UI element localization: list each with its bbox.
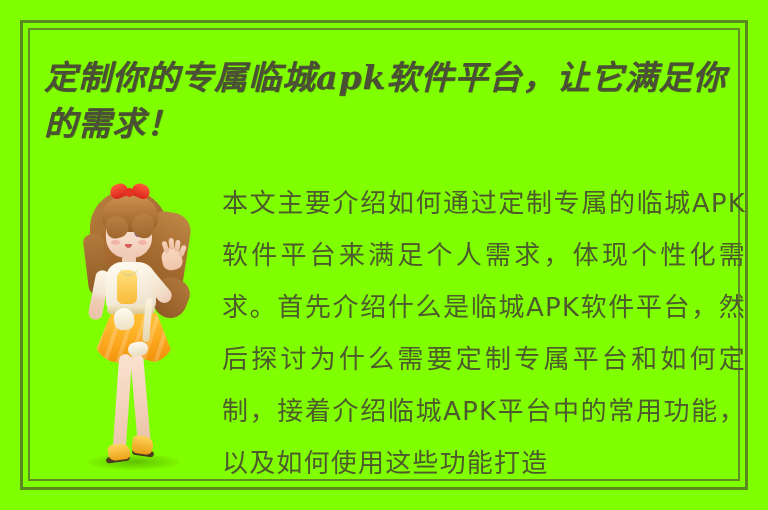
anime-girl-character-illustration bbox=[62, 178, 212, 478]
character-blush-left bbox=[111, 240, 120, 245]
character-left-leg bbox=[113, 354, 133, 451]
character-left-shoe bbox=[107, 443, 131, 462]
character-ground-shadow bbox=[88, 454, 180, 470]
poster-body-text: 本文主要介绍如何通过定制专属的临城APK软件平台来满足个人需求，体现个性化需求。… bbox=[222, 178, 746, 490]
poster-canvas: 定制你的专属临城apk软件平台，让它满足你的需求！ bbox=[0, 0, 768, 510]
character-hair-bow-knot bbox=[125, 188, 134, 197]
character-blush-right bbox=[138, 240, 147, 245]
character-right-shoe bbox=[131, 435, 154, 456]
poster-headline: 定制你的专属临城apk软件平台，让它满足你的需求！ bbox=[44, 55, 744, 147]
character-right-leg bbox=[130, 354, 151, 447]
